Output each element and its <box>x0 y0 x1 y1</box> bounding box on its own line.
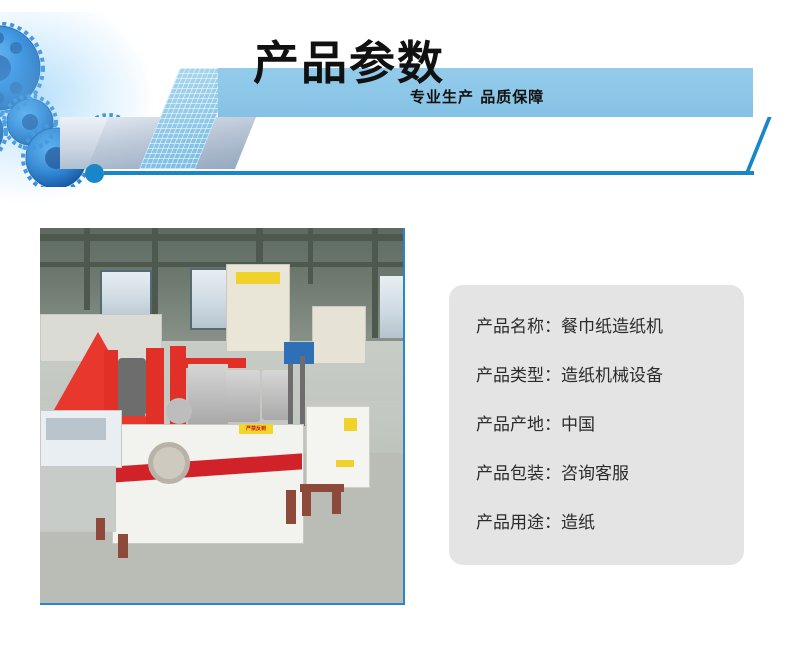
accent-rule-riser <box>745 117 772 173</box>
page-subtitle: 专业生产 品质保障 <box>410 86 544 107</box>
photo-column <box>308 228 313 284</box>
photo-drum <box>226 370 260 422</box>
photo-column <box>152 228 158 318</box>
photo-roller <box>118 358 146 416</box>
photo-column <box>372 228 378 338</box>
photo-red-frame <box>146 348 164 428</box>
product-photo: 严禁反到 <box>40 228 405 605</box>
photo-window <box>380 276 403 338</box>
photo-control-box <box>284 342 314 364</box>
spec-row: 产品包装：咨询客服 <box>476 450 731 499</box>
page-header: 产品参数 专业生产 品质保障 <box>0 0 790 200</box>
photo-post <box>300 356 305 426</box>
photo-leg <box>118 534 128 558</box>
photo-leg <box>332 486 341 514</box>
spec-list: 产品名称：餐巾纸造纸机 产品类型：造纸机械设备 产品产地：中国 产品包装：咨询客… <box>476 303 731 548</box>
photo-machine-body <box>112 424 304 544</box>
photo-electrical-cabinet <box>306 406 370 488</box>
photo-bg-machine <box>312 306 366 364</box>
photo-post <box>288 364 293 426</box>
bullet-dot-icon <box>85 164 104 183</box>
spec-row: 产品用途：造纸 <box>476 499 731 548</box>
accent-rule <box>104 171 754 175</box>
photo-beam <box>40 234 403 241</box>
photo-leg <box>96 518 105 540</box>
spec-row: 产品类型：造纸机械设备 <box>476 352 731 401</box>
photo-column <box>84 228 90 310</box>
photo-hazard-sticker <box>344 418 357 431</box>
photo-cabinet-sticker <box>336 460 354 467</box>
photo-leg <box>286 490 296 524</box>
product-parameters-page: 产品参数 专业生产 品质保障 <box>0 0 790 664</box>
photo-roller <box>188 364 228 424</box>
photo-flywheel <box>166 398 192 424</box>
page-title: 产品参数 <box>253 40 445 86</box>
photo-beam <box>40 262 403 267</box>
spec-panel: 产品名称：餐巾纸造纸机 产品类型：造纸机械设备 产品产地：中国 产品包装：咨询客… <box>449 285 744 565</box>
photo-bg-machine-sign <box>236 272 280 284</box>
photo-warning-label: 严禁反到 <box>239 424 273 434</box>
photo-leg <box>302 486 311 516</box>
photo-handwheel <box>148 442 190 484</box>
photo-tray <box>46 418 106 440</box>
spec-row: 产品名称：餐巾纸造纸机 <box>476 303 731 352</box>
spec-row: 产品产地：中国 <box>476 401 731 450</box>
